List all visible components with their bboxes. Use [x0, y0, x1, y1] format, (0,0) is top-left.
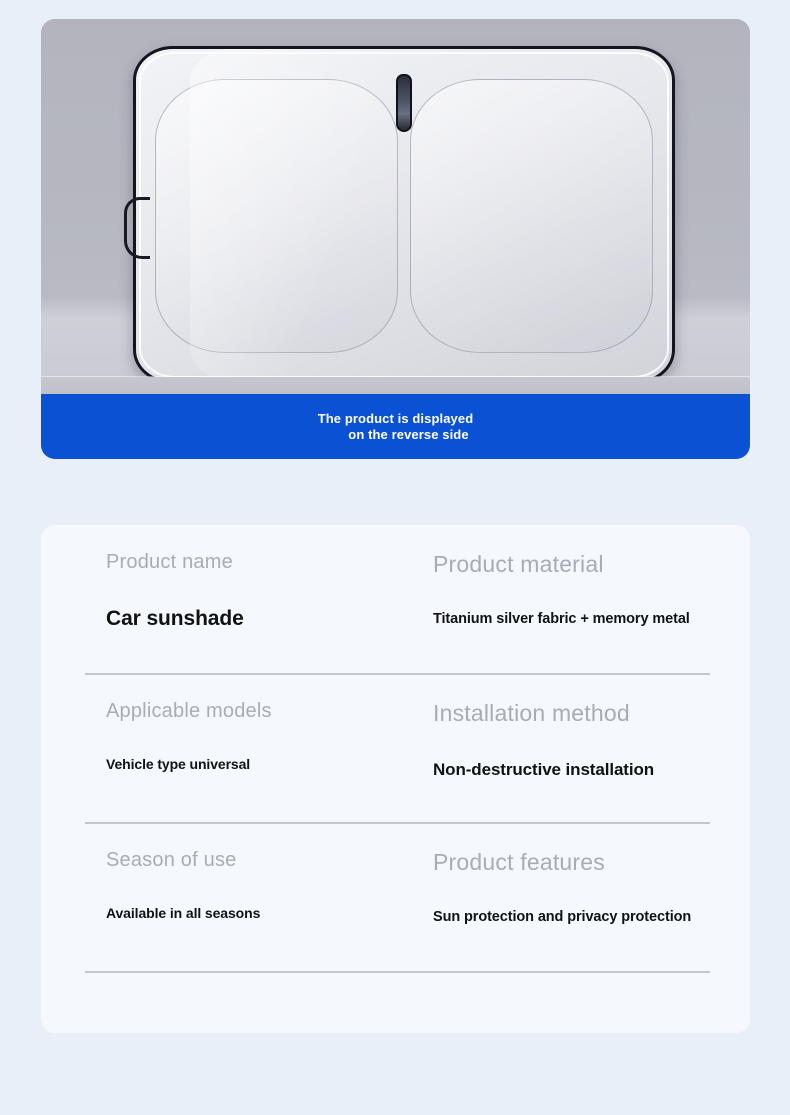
- table-surface: [41, 377, 750, 394]
- spec-row: Applicable models Vehicle type universal…: [41, 674, 750, 823]
- product-photo-backdrop: [41, 19, 750, 394]
- spec-cell-applicable-models: Applicable models Vehicle type universal: [106, 700, 436, 772]
- reverse-side-banner: The product is displayed on the reverse …: [41, 394, 750, 459]
- spec-row: Season of use Available in all seasons P…: [41, 823, 750, 972]
- spec-value: Non-destructive installation: [433, 760, 790, 780]
- left-shade-panel: [155, 79, 398, 353]
- spec-label: Product features: [433, 849, 790, 876]
- row-divider: [85, 971, 710, 973]
- specification-rows: Product name Car sunshade Product materi…: [41, 525, 750, 972]
- spec-row: Product name Car sunshade Product materi…: [41, 525, 750, 674]
- spec-cell-installation-method: Installation method Non-destructive inst…: [433, 700, 790, 780]
- spec-label: Installation method: [433, 700, 790, 727]
- spec-cell-season-of-use: Season of use Available in all seasons: [106, 849, 436, 921]
- spec-value: Available in all seasons: [106, 905, 436, 921]
- spec-value: Vehicle type universal: [106, 756, 436, 772]
- spec-label: Product material: [433, 551, 790, 578]
- specification-card: Product name Car sunshade Product materi…: [41, 525, 750, 1033]
- spec-cell-product-features: Product features Sun protection and priv…: [433, 849, 790, 925]
- side-carry-strap-icon: [124, 197, 150, 259]
- spec-cell-product-name: Product name Car sunshade: [106, 551, 436, 631]
- row-divider: [85, 822, 710, 824]
- spec-value: Sun protection and privacy protection: [433, 909, 790, 925]
- banner-line-2: on the reverse side: [318, 427, 474, 442]
- spec-label: Applicable models: [106, 700, 436, 723]
- banner-line-1: The product is displayed: [318, 411, 474, 426]
- car-sunshade-product: [133, 46, 675, 384]
- right-shade-panel: [410, 79, 653, 353]
- spec-value: Car sunshade: [106, 607, 436, 631]
- spec-label: Product name: [106, 551, 436, 574]
- zipper-pull-tab-icon: [396, 74, 412, 132]
- banner-text-block: The product is displayed on the reverse …: [318, 411, 474, 442]
- spec-value: Titanium silver fabric + memory metal: [433, 611, 790, 627]
- spec-cell-product-material: Product material Titanium silver fabric …: [433, 551, 790, 627]
- spec-label: Season of use: [106, 849, 436, 872]
- product-image-card: The product is displayed on the reverse …: [41, 19, 750, 459]
